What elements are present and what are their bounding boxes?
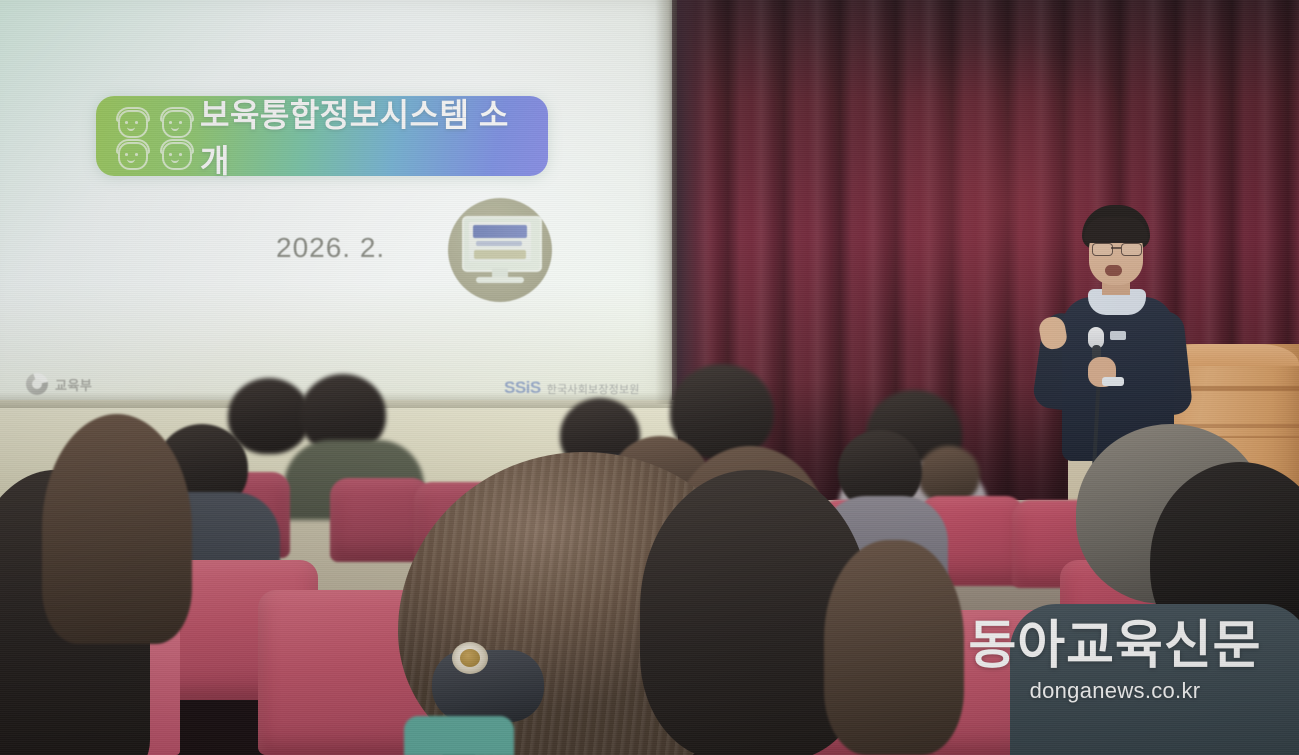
projection-screen-right-edge <box>655 0 677 404</box>
monitor-body <box>462 216 542 272</box>
desktop-monitor-icon <box>448 198 552 302</box>
taegeuk-icon <box>26 373 48 395</box>
hair-scrunchie <box>432 650 544 722</box>
monitor-header-bar <box>473 225 527 238</box>
moe-logo-text: 교육부 <box>55 375 92 394</box>
audience-garment <box>404 716 514 755</box>
four-faces-icon <box>112 106 198 168</box>
audience-head <box>42 414 192 644</box>
ssis-logo-mark: SSiS <box>504 378 541 398</box>
face-icon-4 <box>156 138 198 168</box>
speaker-wristwatch <box>1102 377 1124 386</box>
ssis-logo: SSiS 한국사회보장정보원 <box>504 378 640 398</box>
ssis-logo-text: 한국사회보장정보원 <box>547 381 640 397</box>
scrunchie-button <box>452 642 488 674</box>
audience-shoulders <box>1010 604 1299 755</box>
slide-title-text: 보육통합정보시스템 소개 <box>200 96 532 176</box>
face-icon-2 <box>156 106 198 136</box>
audience-head <box>228 378 310 454</box>
speaker-mouth <box>1105 265 1122 276</box>
speaker-sweater-logo <box>1110 331 1126 340</box>
speaker-hair-front <box>1084 217 1148 243</box>
photograph: 보육통합정보시스템 소개 2026. 2. 교육부 SSiS 한국사회보장정보원 <box>0 0 1299 755</box>
glasses-icon <box>1092 243 1140 254</box>
monitor-screen <box>469 222 531 262</box>
slide-title-badge: 보육통합정보시스템 소개 <box>96 96 548 176</box>
monitor-footer-bar <box>474 250 526 259</box>
face-icon-1 <box>112 106 154 136</box>
monitor-stand-foot <box>476 277 524 283</box>
monitor-subtext-bar <box>476 241 522 246</box>
moe-logo: 교육부 <box>26 370 118 398</box>
projection-screen-tint <box>0 0 672 404</box>
audience-head <box>824 540 964 755</box>
slide-date-text: 2026. 2. <box>276 232 385 264</box>
face-icon-3 <box>112 138 154 168</box>
